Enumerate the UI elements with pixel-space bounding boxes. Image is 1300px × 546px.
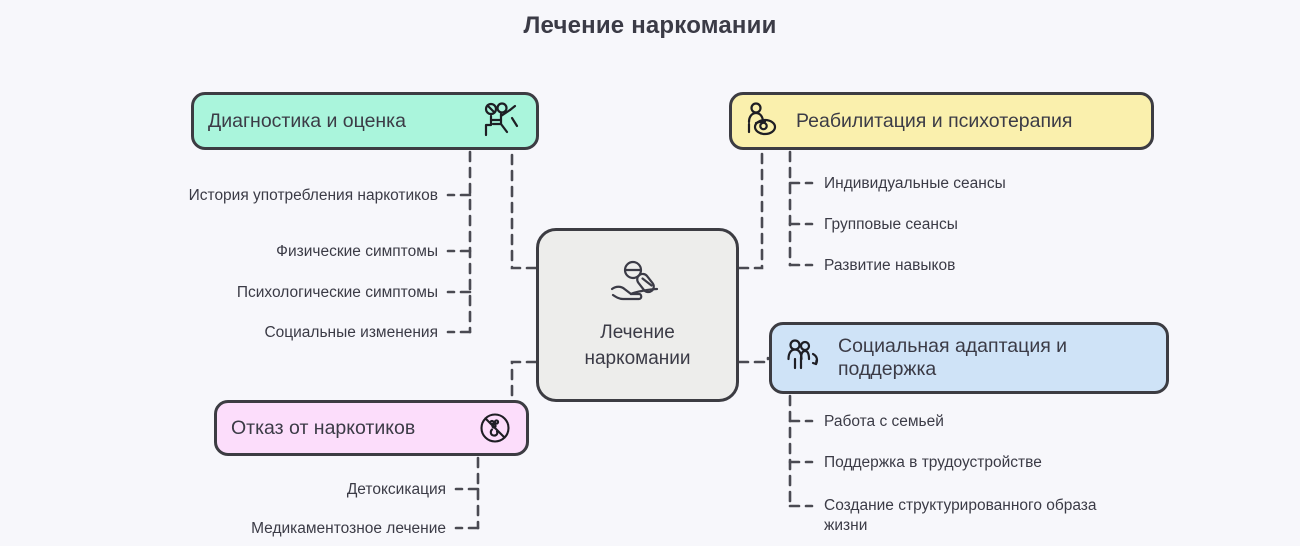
branch-node-refusal-label: Отказ от наркотиков xyxy=(231,417,468,440)
branch-node-refusal[interactable]: Отказ от наркотиков xyxy=(214,400,529,456)
leaf-diagnostics-2: Физические симптомы xyxy=(120,242,438,262)
link-center-refusal xyxy=(512,362,536,402)
leaf-diagnostics-1: История употребления наркотиков xyxy=(120,186,438,206)
leaf-refusal-2: Медикаментозное лечение xyxy=(140,519,446,539)
leaf-social-1: Работа с семьей xyxy=(824,412,1154,432)
center-node-label: Лечение наркомании xyxy=(553,320,723,370)
leaf-rehab-3: Развитие навыков xyxy=(824,256,1154,276)
mindmap-canvas: Лечение наркомании xyxy=(0,0,1300,546)
link-center-diagnostics xyxy=(512,152,536,268)
leaf-diagnostics-4: Социальные изменения xyxy=(120,323,438,343)
hand-with-pills-icon xyxy=(607,259,669,312)
center-node[interactable]: Лечение наркомании xyxy=(536,228,739,402)
leaf-social-2: Поддержка в трудоустройстве xyxy=(824,453,1154,473)
link-center-social xyxy=(739,358,768,362)
people-support-icon xyxy=(786,338,828,378)
branch-node-rehab[interactable]: Реабилитация и психотерапия xyxy=(729,92,1154,150)
branch-node-social-label: Социальная адаптация и поддержка xyxy=(838,335,1152,381)
leaf-refusal-1: Детоксикация xyxy=(140,480,446,500)
seated-person-assessment-icon xyxy=(482,102,522,140)
leaf-social-3: Создание структурированного образа жизни xyxy=(824,496,1134,537)
branch-node-social[interactable]: Социальная адаптация и поддержка xyxy=(769,322,1169,394)
leaf-rehab-2: Групповые сеансы xyxy=(824,215,1154,235)
branch-node-diagnostics-label: Диагностика и оценка xyxy=(208,110,472,133)
no-drugs-prohibition-icon xyxy=(478,411,512,445)
branch-node-rehab-label: Реабилитация и психотерапия xyxy=(796,110,1137,133)
therapy-session-icon xyxy=(746,102,786,140)
link-center-rehab xyxy=(739,152,762,268)
page-title: Лечение наркомании xyxy=(0,12,1300,40)
leaf-diagnostics-3: Психологические симптомы xyxy=(120,283,438,303)
leaf-rehab-1: Индивидуальные сеансы xyxy=(824,174,1154,194)
branch-node-diagnostics[interactable]: Диагностика и оценка xyxy=(191,92,539,150)
